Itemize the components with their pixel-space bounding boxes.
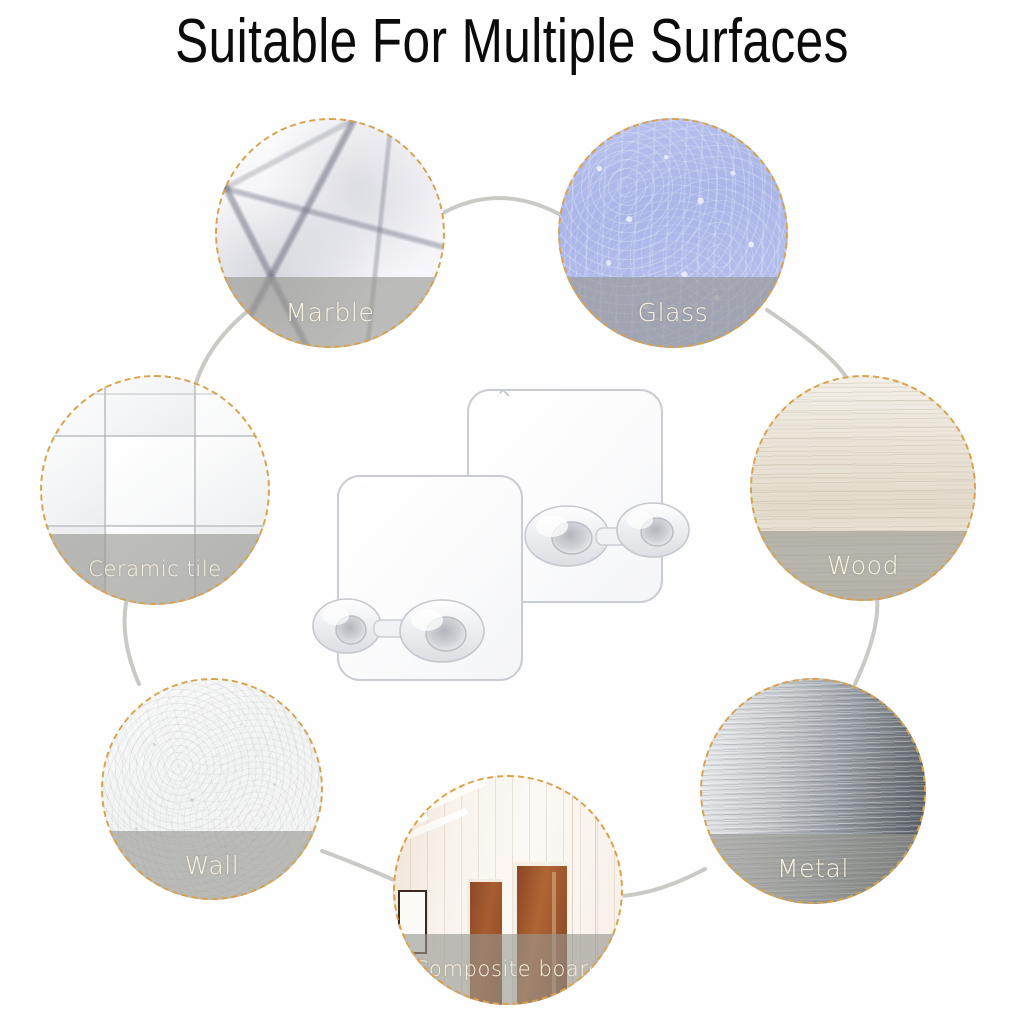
connector-marble-glass (443, 198, 561, 215)
connector-wall-tile (125, 603, 139, 684)
surface-circle-metal[interactable]: Metal (700, 678, 926, 904)
dashed-ring-marble (215, 118, 445, 348)
dashed-ring-metal (700, 678, 926, 904)
surface-circle-wall[interactable]: Wall (101, 678, 323, 900)
hook-pad-front (313, 476, 522, 680)
page-title: Suitable For Multiple Surfaces (102, 6, 921, 78)
hook-back-right (617, 503, 689, 557)
dashed-ring-glass (558, 118, 788, 348)
surface-circle-marble[interactable]: Marble (215, 118, 445, 348)
connector-composite-wall (322, 851, 394, 880)
infographic-canvas: Suitable For Multiple Surfaces Marble (0, 0, 1024, 1024)
connector-wood-metal (855, 598, 877, 684)
hook-front-right (400, 600, 484, 662)
dashed-ring-tile (40, 375, 270, 605)
surface-circle-glass[interactable]: Glass (558, 118, 788, 348)
dashed-ring-wall (101, 678, 323, 900)
surface-circle-wood[interactable]: Wood (750, 375, 976, 601)
product-image-adhesive-hooks (300, 368, 710, 713)
connector-metal-composite (621, 869, 705, 896)
surface-circle-tile[interactable]: Ceramic tile (40, 375, 270, 605)
dashed-ring-composite (393, 775, 623, 1005)
hook-front-left (313, 599, 381, 653)
surface-circle-composite[interactable]: Composite board (393, 775, 623, 1005)
dashed-ring-wood (750, 375, 976, 601)
